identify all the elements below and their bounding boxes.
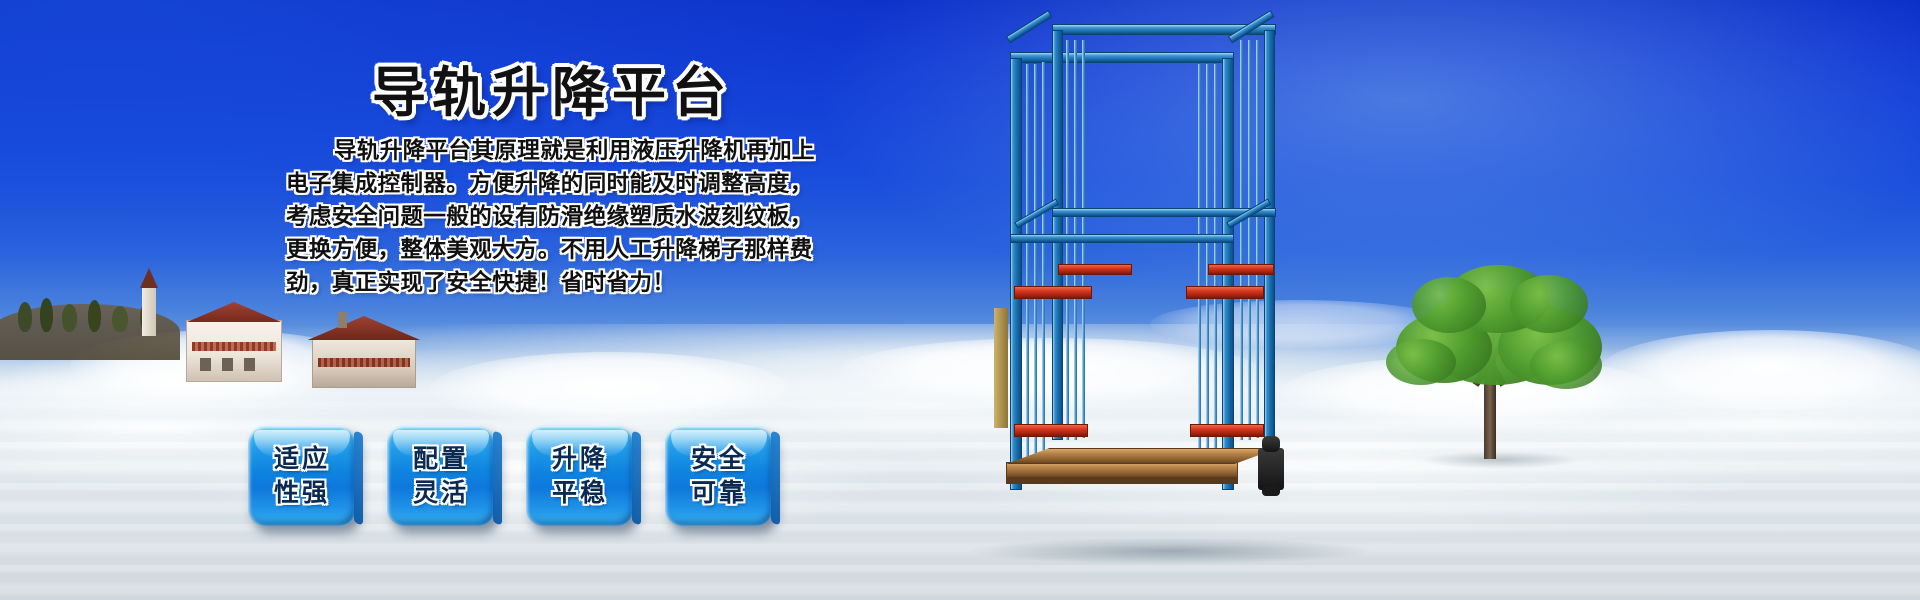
feature-badge-line1: 适应 (274, 442, 330, 476)
description-line: 导轨升降平台其原理就是利用液压升降机再加上 (286, 135, 756, 168)
description-line: 更换方便，整体美观大方。不用人工升降梯子那样费 (286, 234, 756, 267)
product-ground-shadow (970, 538, 1370, 564)
village-conifer (112, 306, 128, 332)
tree-foliage (1510, 275, 1588, 333)
lift-lower-bar-right (1190, 424, 1264, 437)
product-banner: 导轨升降平台 导轨升降平台其原理就是利用液压升降机再加上 电子集成控制器。方便升… (0, 0, 1920, 600)
lift-lower-bar-left (1014, 424, 1088, 437)
guide-rail-lift-platform (1000, 18, 1360, 570)
lift-mid-beam (1010, 234, 1234, 243)
lift-guide-rail (1034, 64, 1037, 460)
village-conifer (18, 302, 32, 332)
feature-badge-line2: 性强 (274, 476, 330, 510)
lift-guide-rail (1042, 62, 1045, 456)
feature-badge-smooth-lift[interactable]: 升降 平稳 (526, 426, 634, 526)
church-spire (140, 268, 158, 288)
tree-foliage (1386, 339, 1456, 385)
village-house-roof (178, 302, 290, 322)
feature-badge-line1: 配置 (413, 442, 469, 476)
village-house-main (186, 320, 282, 382)
feature-badge-list: 适应 性强 配置 灵活 升降 平稳 安全 可靠 (248, 426, 773, 526)
description-line: 考虑安全问题一般的设有防滑绝缘塑质水波刻纹板， (286, 201, 756, 234)
house-balcony (192, 342, 276, 351)
lift-control-column (994, 308, 1008, 428)
lift-carriage-bar-rear (1058, 264, 1132, 275)
lift-carriage-bar-rear (1208, 264, 1274, 275)
feature-badge-line2: 平稳 (552, 476, 608, 510)
cloud-puff (430, 352, 790, 426)
tree-foliage (1530, 341, 1602, 389)
hydraulic-pump-unit (1258, 448, 1284, 490)
feature-badge-line1: 升降 (552, 442, 608, 476)
house-window (200, 358, 211, 371)
lift-post-rear-right (1264, 30, 1275, 440)
lift-platform-deck (1006, 462, 1238, 478)
green-tree (1360, 255, 1630, 470)
lift-guide-rail (1026, 64, 1029, 460)
feature-badge-configuration[interactable]: 配置 灵活 (387, 426, 495, 526)
lift-guide-rail (1206, 64, 1209, 460)
lift-guide-rail (1256, 40, 1259, 438)
house-window (222, 358, 233, 371)
feature-badge-line2: 灵活 (413, 476, 469, 510)
village-conifer (88, 300, 101, 332)
lift-guide-rail (1248, 40, 1251, 440)
chalet-balcony (318, 358, 410, 367)
house-window (244, 358, 255, 371)
lift-carriage-bar-right (1186, 286, 1264, 299)
chalet-chimney (338, 312, 347, 328)
alpine-village (0, 298, 330, 408)
feature-badge-safety[interactable]: 安全 可靠 (665, 426, 773, 526)
lift-deck-edge (1006, 478, 1238, 484)
page-title: 导轨升降平台 (372, 48, 732, 127)
tree-ground-shadow (1420, 451, 1580, 469)
village-conifer (62, 304, 77, 332)
village-haze (0, 358, 340, 418)
description-line: 电子集成控制器。方便升降的同时能及时调整高度， (286, 168, 756, 201)
lift-guide-rail (1240, 40, 1243, 440)
lift-caster-wheel (1262, 486, 1280, 496)
feature-badge-adaptability[interactable]: 适应 性强 (248, 426, 356, 526)
lift-carriage-bar-left (1014, 286, 1092, 299)
feature-badge-line2: 可靠 (691, 476, 747, 510)
lift-platform-deck-top (1006, 448, 1278, 464)
description-block: 导轨升降平台其原理就是利用液压升降机再加上 电子集成控制器。方便升降的同时能及时… (286, 135, 756, 300)
feature-badge-line1: 安全 (691, 442, 747, 476)
hydraulic-pump-motor (1262, 436, 1280, 452)
cloud-puff (1600, 330, 1920, 410)
lift-guide-rail (1214, 64, 1217, 460)
description-line: 劲，真正实现了安全快捷！省时省力！ (286, 267, 756, 300)
village-conifer (40, 298, 53, 332)
tree-foliage (1412, 277, 1486, 333)
village-church (142, 284, 156, 336)
lift-guide-rail (1198, 64, 1201, 460)
